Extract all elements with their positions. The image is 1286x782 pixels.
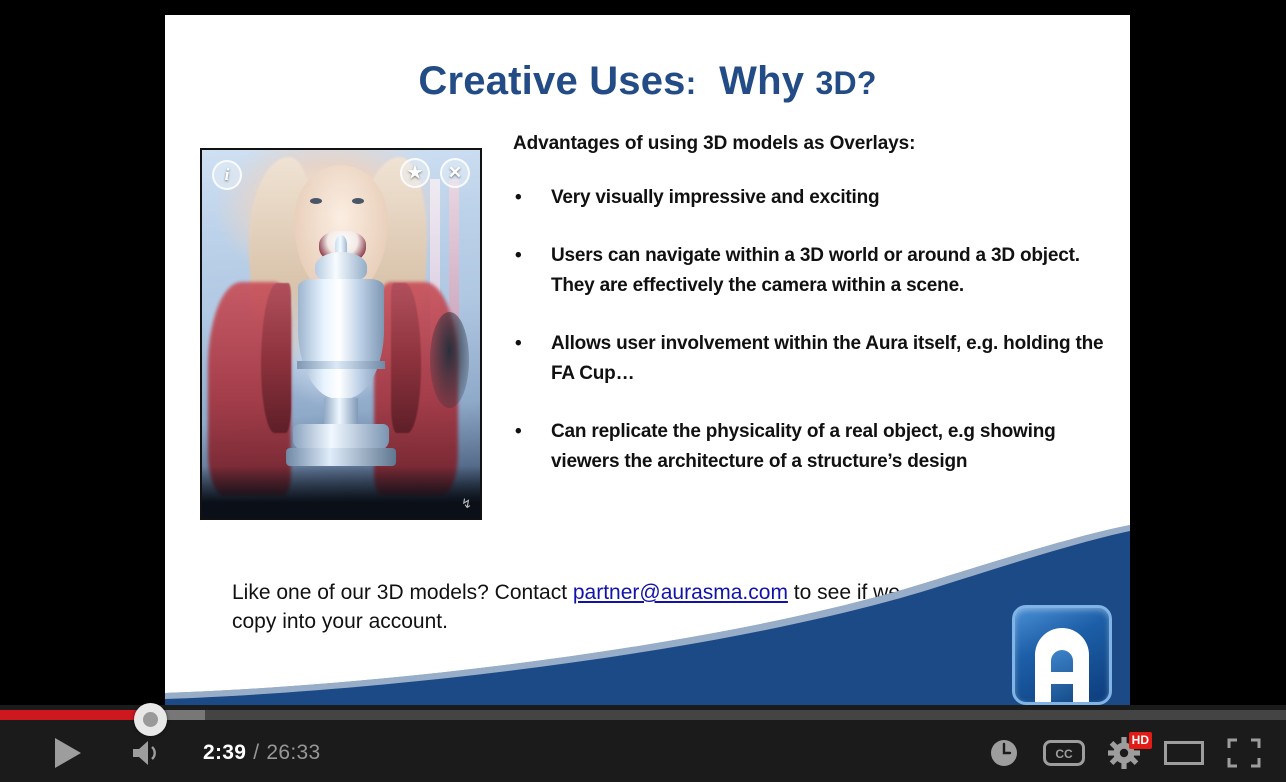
logo-arch-bar: [1035, 672, 1089, 684]
slide-body: Advantages of using 3D models as Overlay…: [513, 133, 1113, 505]
closed-captions-icon: CC: [1043, 740, 1085, 766]
trophy-base-upper: [293, 424, 389, 450]
trophy-base-lower: [286, 448, 396, 466]
contact-paragraph: Like one of our 3D models? Contact partn…: [232, 578, 1022, 636]
list-item: • Can replicate the physicality of a rea…: [513, 417, 1113, 477]
presentation-slide: Creative Uses: Why 3D?: [165, 15, 1130, 705]
info-icon[interactable]: i: [212, 160, 242, 190]
ar-screenshot-photo: i ★ ✕ ↯: [200, 148, 482, 520]
closed-captions-button[interactable]: CC: [1034, 723, 1094, 782]
bullet-icon: •: [515, 241, 521, 271]
time-display: 2:39 / 26:33: [203, 723, 320, 782]
list-item-label: Allows user involvement within the Aura …: [551, 333, 1103, 384]
video-viewport[interactable]: Creative Uses: Why 3D?: [0, 0, 1286, 705]
background-figure: [430, 312, 469, 408]
bullet-icon: •: [515, 417, 521, 447]
title-part-main: Creative Uses: [418, 59, 685, 103]
logo-arch-shape: [1035, 628, 1089, 705]
trophy-lid: [315, 252, 367, 282]
total-time: 26:33: [266, 741, 320, 765]
current-time: 2:39: [203, 741, 246, 765]
play-icon: [55, 738, 81, 768]
title-colon: :: [686, 65, 697, 101]
title-part-second: Why: [719, 59, 804, 103]
clock-icon: [989, 738, 1019, 768]
bullet-list: • Very visually impressive and exciting …: [513, 183, 1113, 477]
list-item-label: Users can navigate within a 3D world or …: [551, 245, 1080, 296]
aurasma-watermark-icon: ↯: [461, 496, 472, 512]
list-item-label: Very visually impressive and exciting: [551, 187, 879, 208]
trophy-bowl: [298, 279, 384, 399]
contact-text-before: Like one of our 3D models? Contact: [232, 581, 573, 604]
list-item: • Users can navigate within a 3D world o…: [513, 241, 1113, 301]
eye-left: [310, 198, 322, 204]
list-item: • Very visually impressive and exciting: [513, 183, 1113, 213]
settings-button[interactable]: HD: [1094, 723, 1154, 782]
eye-right: [352, 198, 364, 204]
theater-mode-icon: [1164, 739, 1204, 767]
fullscreen-button[interactable]: [1214, 723, 1274, 782]
title-part-3d: 3D: [816, 65, 857, 101]
controls-row: 2:39 / 26:33 CC: [0, 723, 1286, 782]
play-button[interactable]: [38, 723, 98, 782]
photo-canvas: [202, 150, 480, 518]
list-item: • Allows user involvement within the Aur…: [513, 329, 1113, 389]
photo-bottom-shadow: [202, 466, 480, 518]
watch-later-button[interactable]: [974, 723, 1034, 782]
cc-label: CC: [1055, 747, 1073, 761]
trophy-handle-left: [261, 283, 291, 433]
logo-arch-inner: [1051, 650, 1073, 705]
star-icon[interactable]: ★: [400, 158, 430, 188]
aurasma-logo: [1012, 605, 1112, 705]
bullet-icon: •: [515, 329, 521, 359]
volume-button[interactable]: [118, 723, 178, 782]
progress-played: [0, 710, 150, 720]
trophy-band: [297, 361, 385, 369]
close-icon[interactable]: ✕: [440, 158, 470, 188]
body-heading: Advantages of using 3D models as Overlay…: [513, 133, 1113, 155]
bullet-icon: •: [515, 183, 521, 213]
page-title: Creative Uses: Why 3D?: [165, 59, 1130, 104]
list-item-label: Can replicate the physicality of a real …: [551, 421, 1056, 472]
video-player: Creative Uses: Why 3D?: [0, 0, 1286, 782]
title-question-mark: ?: [857, 65, 877, 101]
trophy-stem: [324, 398, 358, 426]
contact-email-link[interactable]: partner@aurasma.com: [573, 581, 788, 604]
right-controls: CC: [974, 723, 1274, 782]
hd-badge: HD: [1129, 732, 1152, 749]
progress-bar[interactable]: [0, 710, 1286, 720]
player-controls: 2:39 / 26:33 CC: [0, 705, 1286, 782]
theater-mode-button[interactable]: [1154, 723, 1214, 782]
volume-icon: [131, 739, 165, 767]
fullscreen-icon: [1227, 738, 1261, 768]
time-separator: /: [253, 741, 259, 765]
